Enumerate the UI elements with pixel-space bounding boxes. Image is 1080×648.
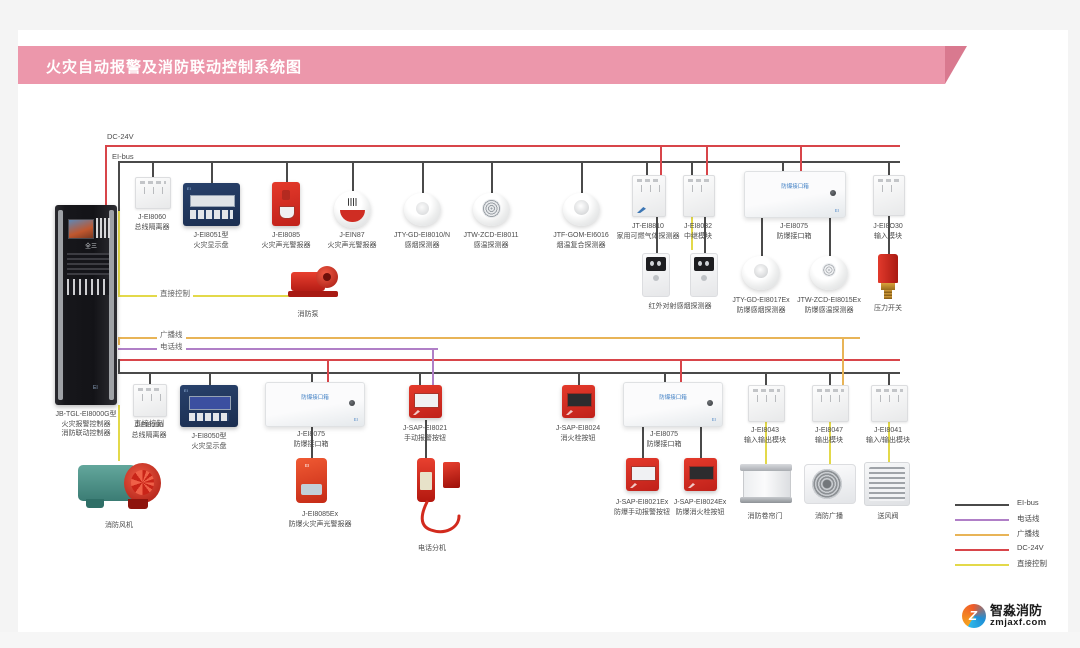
- watermark-url: zmjaxf.com: [990, 617, 1047, 628]
- dev-model: J-EI8060: [138, 214, 166, 221]
- device-ei8030-input-module[interactable]: [873, 175, 905, 216]
- wire-drop-ei8047-bc: [842, 337, 844, 385]
- legend-swatch-direct-control: [955, 564, 1009, 566]
- ex-sounder-body: [296, 458, 327, 503]
- dev-model: JT-EI8810: [632, 223, 664, 230]
- device-ei8017ex-smoke-detector[interactable]: [742, 256, 780, 290]
- detector-center: [416, 202, 429, 215]
- device-ei8075-interface-cabinet-top[interactable]: 防爆接口箱 EI: [744, 171, 846, 218]
- legend-swatch-broadcast: [955, 534, 1009, 536]
- dev-model: JTY-GD-EI8017Ex: [732, 297, 789, 304]
- dev-name: 消防风机: [105, 522, 133, 529]
- dev-name: 火灾显示盘: [192, 443, 227, 450]
- dev-model: J-EI8075: [297, 431, 325, 438]
- dev-name: 中继模块: [684, 233, 712, 240]
- caption-ei6016: JTF-GOM-EI6016 烟温复合探测器: [553, 231, 609, 250]
- wire-eibus-down-left: [118, 161, 120, 211]
- legend-row-dc24v: DC-24V: [955, 542, 1067, 557]
- detector-center: [822, 263, 836, 277]
- device-ei6016-combined-detector[interactable]: [563, 193, 600, 226]
- dev-model: JTF-GOM-EI6016: [553, 232, 609, 239]
- dev-model: J-SAP-EI8021Ex: [616, 499, 669, 506]
- speaker-hub: [823, 480, 831, 488]
- cabinet-keypad[interactable]: [96, 218, 110, 238]
- caption-ei8060-top: J-EI8060 总线隔离器: [135, 213, 170, 232]
- caption-ir-beam: 红外对射感烟探测器: [649, 302, 712, 312]
- device-ir-beam-receiver[interactable]: [690, 253, 718, 297]
- module-terminals: [754, 395, 779, 402]
- detector-center: [754, 264, 768, 278]
- ir-window: [646, 257, 666, 271]
- dev-model: JTW-ZCD-EI8011: [464, 232, 519, 239]
- cabinet-front-label: 防爆接口箱: [301, 393, 329, 401]
- device-ei8075-interface-cabinet-bottom[interactable]: 防爆接口箱 EI: [623, 382, 723, 427]
- wire-drop-ei8032: [691, 161, 693, 175]
- device-ei8024ex-hydrant-button[interactable]: [684, 458, 717, 491]
- caption-ei8043: J-EI8043 输入输出模块: [744, 426, 786, 445]
- caption-ei8051: J-EI8051型 火灾显示盘: [193, 231, 228, 250]
- cabinet-brand-logo: EI: [835, 208, 839, 213]
- device-fire-roller-shutter[interactable]: [740, 464, 792, 504]
- dev-model: JTW-ZCD-EI8015Ex: [797, 297, 861, 304]
- cabinet-lock-knob[interactable]: [707, 400, 713, 406]
- diagram-canvas: 火灾自动报警及消防联动控制系统图: [0, 0, 1080, 648]
- dev-name: 消防泵: [298, 311, 319, 318]
- panel-brand-tag: EI: [187, 186, 191, 191]
- dev-name: 总线隔离器: [132, 432, 167, 439]
- pump-base: [288, 291, 338, 297]
- detector-mesh: [482, 199, 501, 218]
- caption-ei8032: J-EI8032 中继模块: [684, 222, 712, 241]
- caption-fire-telephone: 电话分机: [418, 544, 446, 554]
- device-ei8010-smoke-detector[interactable]: [404, 193, 441, 226]
- legend-row-telephone: 电话线: [955, 512, 1067, 527]
- wire-eibus-lower-trunk: [118, 372, 900, 374]
- dev-name: 防爆感烟探测器: [736, 307, 785, 314]
- dev-name: 感温探测器: [473, 242, 508, 249]
- phone-label: [420, 472, 432, 490]
- device-ei8047-output-module[interactable]: [812, 385, 849, 422]
- label-dc24v: DC-24V: [105, 132, 136, 141]
- device-pressure-switch[interactable]: [874, 254, 902, 300]
- device-ei8060-bottom[interactable]: [133, 384, 167, 417]
- cabinet-brand-logo: EI: [712, 417, 716, 422]
- module-terminals: [141, 187, 165, 194]
- dev-name: 消防广播: [815, 513, 843, 520]
- label-broadcast: 广播线: [157, 329, 186, 340]
- wire-drop-ei8075-top: [782, 161, 784, 171]
- fan-foot-r: [128, 499, 148, 509]
- caption-ei8047: J-EI8047 输出模块: [815, 426, 843, 445]
- cabinet-front-label: 防爆接口箱: [659, 393, 687, 401]
- dev-name: 防爆手动报警按钮: [614, 509, 670, 516]
- caption-ei8015ex: JTW-ZCD-EI8015Ex 防爆感温探测器: [797, 296, 861, 315]
- dev-model: J-EI8085: [272, 232, 300, 239]
- device-ei8051-display-panel[interactable]: EI: [183, 183, 240, 226]
- module-label-strip: [817, 389, 844, 392]
- dev-name: 火灾显示盘: [194, 242, 229, 249]
- controller-model: JB-TGL-EI8000G型: [55, 411, 116, 418]
- device-ei8011-heat-detector[interactable]: [473, 193, 510, 226]
- dev-model: J-EI8043: [751, 427, 779, 434]
- module-terminals: [879, 185, 899, 192]
- wire-dc24v-down-left: [105, 145, 107, 207]
- ir-window: [694, 257, 714, 271]
- page-title: 火灾自动报警及消防联动控制系统图: [46, 56, 302, 77]
- ir-indicator: [653, 275, 659, 281]
- device-ei8043-io-module[interactable]: [748, 385, 785, 422]
- dev-name: 防爆火灾声光警报器: [289, 521, 352, 528]
- panel-buttons[interactable]: [190, 210, 233, 219]
- wire-drop-ei8085: [286, 161, 288, 182]
- legend-label: DC-24V: [1017, 543, 1044, 552]
- dev-model: J-EI8O30: [873, 223, 903, 230]
- dev-name: 家用可燃气体探测器: [617, 233, 680, 240]
- dev-name: 手动报警按钮: [404, 435, 446, 442]
- ex-sounder-lens: [301, 484, 322, 495]
- device-ei8041-io-module[interactable]: [871, 385, 908, 422]
- pump-hub: [323, 273, 331, 281]
- device-air-supply-damper[interactable]: [864, 462, 910, 506]
- fan-foot-l: [86, 499, 104, 508]
- module-terminals: [139, 394, 161, 401]
- wire-ei8075-to-ex-smoke: [761, 216, 763, 256]
- caption-ei8075-bottom: J-EI8075 防爆接口箱: [647, 430, 682, 449]
- device-fire-pump[interactable]: [285, 264, 343, 302]
- phone-jackbox: [443, 462, 460, 488]
- dev-model: J-SAP-EI8024Ex: [674, 499, 727, 506]
- cabinet-rail-left: [58, 210, 63, 400]
- cabinet-brand-mark: 全三: [85, 241, 97, 250]
- cabinet-display-screen[interactable]: [68, 219, 94, 239]
- wire-direct-control-top: [118, 295, 306, 297]
- shutter-headbox: [740, 464, 792, 471]
- module-label-strip: [753, 389, 780, 392]
- dev-name: 消火栓按钮: [560, 435, 595, 442]
- dev-name: 感烟探测器: [405, 242, 440, 249]
- legend-row-eibus: EI-bus: [955, 497, 1067, 512]
- dev-name: 消防卷帘门: [748, 513, 783, 520]
- dev-name: 防爆接口箱: [647, 441, 682, 448]
- wire-drop-ei8075-b2: [311, 372, 313, 382]
- caption-ei8010: JTY-GD-EI8010/N 感烟探测器: [394, 231, 450, 250]
- wire-drop-ei8043: [765, 372, 767, 385]
- legend-swatch-eibus: [955, 504, 1009, 506]
- legend-label: 广播线: [1017, 528, 1040, 539]
- dev-model: J-EI8075: [780, 223, 808, 230]
- module-label-strip: [140, 181, 166, 184]
- caption-ei8011: JTW-ZCD-EI8011 感温探测器: [464, 231, 519, 250]
- device-ei8021-manual-call-point[interactable]: [409, 385, 442, 418]
- watermark: 智淼消防 zmjaxf.com: [962, 604, 1047, 628]
- label-direct-control-top: 直接控制: [157, 288, 193, 299]
- module-label-strip: [878, 179, 900, 182]
- module-label-strip: [637, 179, 661, 182]
- wire-drop-ei8047: [829, 372, 831, 385]
- caption-ei8075-mid: J-EI8075 防爆接口箱: [294, 430, 329, 449]
- dev-name: 火灾声光警报器: [262, 242, 311, 249]
- dev-model: J-EI8032: [684, 223, 712, 230]
- call-point-window: [414, 393, 439, 408]
- watermark-text: 智淼消防 zmjaxf.com: [990, 604, 1047, 628]
- cabinet-rail-right: [109, 210, 114, 400]
- dev-model: J-SAP-EI8024: [556, 425, 600, 432]
- brand-logo-icon: [962, 604, 986, 628]
- dev-name: 总线隔离器: [135, 224, 170, 231]
- dev-name: 火灾声光警报器: [328, 242, 377, 249]
- fan-blades: [131, 470, 154, 495]
- panel-brand-tag: EI: [184, 388, 188, 393]
- wire-drop-ei8024: [578, 372, 580, 385]
- phone-cord-icon: [415, 500, 465, 536]
- wire-dc24v-trunk: [105, 145, 900, 147]
- wire-drop-ei8030: [888, 161, 890, 175]
- wire-drop-ei8032-dc: [706, 145, 708, 175]
- legend: EI-bus 电话线 广播线 DC-24V 直接控制: [955, 497, 1067, 572]
- module-terminals: [877, 395, 902, 402]
- device-ei8085-sounder[interactable]: [272, 182, 300, 226]
- cabinet-lock-knob[interactable]: [349, 400, 355, 406]
- device-ei8060-top[interactable]: [135, 177, 171, 209]
- wire-drop-ei8810-dc: [660, 145, 662, 175]
- cabinet-module-strip-lower: [67, 279, 109, 295]
- dev-name: 输入/输出模块: [866, 437, 910, 444]
- device-fire-telephone-extension[interactable]: [409, 458, 465, 540]
- wire-eibus-lower-v: [118, 359, 120, 372]
- device-ei8024-hydrant-button[interactable]: [562, 385, 595, 418]
- dev-model: J-EI8051型: [193, 232, 228, 239]
- wire-drop-ein87: [352, 161, 354, 191]
- dev-model: J-EI8047: [815, 427, 843, 434]
- module-terminals: [818, 395, 843, 402]
- caption-smoke-exhaust-fan: 消防风机: [105, 521, 133, 531]
- page-margin-bottom: [0, 632, 1080, 648]
- ir-lens-l: [650, 261, 654, 266]
- switch-collar: [881, 283, 895, 290]
- dev-model: JTY-GD-EI8010/N: [394, 232, 450, 239]
- wire-drop-ei8060-bottom: [149, 372, 151, 384]
- dev-name: 输入输出模块: [744, 437, 786, 444]
- wire-drop-ei8075-b3-dc: [680, 359, 682, 382]
- dev-name: 防爆感温探测器: [804, 307, 853, 314]
- dev-model: J-EI8060: [135, 422, 163, 429]
- legend-label: EI-bus: [1017, 498, 1039, 507]
- device-ei8021ex-manual-call-point[interactable]: [626, 458, 659, 491]
- module-terminals: [689, 185, 709, 192]
- wire-drop-ei8060-top: [152, 161, 154, 177]
- ir-lens-l: [698, 261, 702, 266]
- wire-drop-ei8050: [209, 372, 211, 385]
- detector-center: [574, 200, 589, 215]
- gas-detector-logo: [637, 207, 646, 213]
- page-margin-top: [0, 0, 1080, 30]
- wire-drop-ei8021: [419, 372, 421, 385]
- dev-model: J-EIN87: [339, 232, 364, 239]
- wire-drop-ei8075-b2-dc: [327, 359, 329, 382]
- dev-model: J-EI8050型: [191, 433, 226, 440]
- dev-name: 烟温复合探测器: [557, 242, 606, 249]
- wire-drop-ei8021-tel: [432, 348, 434, 385]
- shutter-rail: [740, 497, 792, 503]
- caption-ei8024ex: J-SAP-EI8024Ex 防爆消火栓按钮: [674, 498, 727, 517]
- controller-line2: 火灾报警控制器: [61, 421, 110, 428]
- dev-name: 输入模块: [874, 233, 902, 240]
- ir-lens-r: [657, 261, 661, 266]
- caption-ei8060-bottom: J-EI8060 总线隔离器: [132, 421, 167, 440]
- wire-dc24v-lower-trunk: [118, 359, 900, 361]
- dev-model: J-EI8085Ex: [302, 511, 338, 518]
- ir-indicator: [701, 275, 707, 281]
- wire-drop-ei8075-b3: [664, 372, 666, 382]
- ir-lens-r: [705, 261, 709, 266]
- caption-fire-broadcast: 消防广播: [815, 512, 843, 522]
- caption-ein87: J-EIN87 火灾声光警报器: [328, 231, 377, 250]
- damper-louvers: [869, 467, 905, 501]
- device-ei8085ex-sounder[interactable]: EI: [296, 458, 327, 503]
- switch-body: [878, 254, 898, 283]
- wire-drop-ei8011: [491, 161, 493, 193]
- dev-name: 防爆接口箱: [777, 233, 812, 240]
- device-ei8032-repeater-module[interactable]: [683, 175, 715, 217]
- controller-line3: 消防联动控制器: [61, 430, 110, 437]
- legend-label: 直接控制: [1017, 558, 1047, 569]
- device-smoke-exhaust-fan[interactable]: [76, 461, 164, 513]
- wire-drop-ei8041: [888, 372, 890, 385]
- page-margin-left: [0, 0, 18, 648]
- cabinet-module-strip-upper: [67, 253, 109, 275]
- cabinet-logo: EI: [93, 385, 98, 391]
- caption-fire-roller-shutter: 消防卷帘门: [748, 512, 783, 522]
- wire-direct-control-top-v: [118, 211, 120, 295]
- device-ei8075-interface-cabinet-mid[interactable]: 防爆接口箱 EI: [265, 382, 365, 427]
- dev-model: J-EI8075: [650, 431, 678, 438]
- dev-name: 红外对射感烟探测器: [649, 303, 712, 310]
- module-label-strip: [688, 179, 710, 182]
- wire-drop-ei8051: [211, 161, 213, 183]
- wire-broadcast-trunk: [118, 337, 860, 339]
- label-eibus: EI-bus: [110, 152, 136, 161]
- dev-name: 送风阀: [878, 513, 899, 520]
- wire-ei8075-b3-to-ex21: [642, 425, 644, 458]
- caption-controller: JB-TGL-EI8000G型 火灾报警控制器 消防联动控制器: [55, 410, 116, 439]
- caption-ei8085: J-EI8085 火灾声光警报器: [262, 231, 311, 250]
- cabinet-front-label: 防爆接口箱: [781, 182, 809, 190]
- panel-lcd: [190, 195, 235, 207]
- caption-ei8024: J-SAP-EI8024 消火栓按钮: [556, 424, 600, 443]
- panel-lcd: [189, 396, 231, 410]
- dev-name: 防爆接口箱: [294, 441, 329, 448]
- caption-ei8030: J-EI8O30 输入模块: [873, 222, 903, 241]
- dev-model: J-SAP-EI8021: [403, 425, 447, 432]
- legend-row-direct-control: 直接控制: [955, 557, 1067, 572]
- call-point-logo: [413, 410, 420, 415]
- caption-ei8050: J-EI8050型 火灾显示盘: [191, 432, 226, 451]
- legend-label: 电话线: [1017, 513, 1040, 524]
- hydrant-button-window: [689, 466, 714, 480]
- page-margin-right: [1068, 0, 1080, 648]
- panel-buttons[interactable]: [189, 413, 229, 421]
- dev-model: J-EI8041: [874, 427, 902, 434]
- caption-pressure-switch: 压力开关: [874, 304, 902, 314]
- caption-fire-pump: 消防泵: [298, 310, 319, 320]
- dev-name: 防爆消火栓按钮: [676, 509, 725, 516]
- legend-row-broadcast: 广播线: [955, 527, 1067, 542]
- device-ein87-sounder[interactable]: [334, 191, 371, 228]
- watermark-brand: 智淼消防: [990, 604, 1047, 617]
- device-ei8050-display-panel[interactable]: EI: [180, 385, 238, 427]
- call-point-logo: [630, 483, 637, 488]
- wire-direct-control-fan: [118, 405, 120, 461]
- hydrant-button-window: [567, 393, 592, 407]
- wire-drop-ei8010: [422, 161, 424, 193]
- device-ei8810-gas-detector[interactable]: [632, 175, 666, 217]
- fire-alarm-control-cabinet[interactable]: 全三 EI: [55, 205, 117, 405]
- hydrant-button-logo: [566, 410, 573, 415]
- wire-drop-ei8810: [646, 161, 648, 175]
- device-ir-beam-transmitter[interactable]: [642, 253, 670, 297]
- dev-name: 电话分机: [418, 545, 446, 552]
- ex-sounder-logo: EI: [305, 463, 309, 468]
- module-terminals: [638, 185, 660, 192]
- wire-drop-ei8075-dc: [800, 145, 802, 171]
- wire-ei8075-to-ex-heat: [829, 216, 831, 256]
- sounder-lens: [279, 206, 295, 219]
- sounder-red-dome: [340, 210, 365, 222]
- hydrant-button-logo: [688, 483, 695, 488]
- caption-ei8085ex: J-EI8085Ex 防爆火灾声光警报器: [289, 510, 352, 529]
- shutter-curtain: [743, 471, 791, 497]
- dev-name: 输出模块: [815, 437, 843, 444]
- device-fire-broadcast-speaker[interactable]: [804, 464, 856, 504]
- call-point-window: [631, 466, 656, 481]
- legend-swatch-telephone: [955, 519, 1009, 521]
- sounder-grille: [282, 190, 290, 200]
- wire-broadcast-v: [118, 337, 120, 345]
- legend-swatch-dc24v: [955, 549, 1009, 551]
- caption-air-supply-damper: 送风阀: [878, 512, 899, 522]
- caption-ei8810: JT-EI8810 家用可燃气体探测器: [617, 222, 680, 241]
- cabinet-brand-logo: EI: [354, 417, 358, 422]
- caption-ei8075-top: J-EI8075 防爆接口箱: [777, 222, 812, 241]
- banner-fold-corner: [945, 46, 967, 84]
- caption-ei8041: J-EI8041 输入/输出模块: [866, 426, 910, 445]
- cabinet-lock-knob[interactable]: [830, 190, 836, 196]
- label-telephone: 电话线: [157, 341, 186, 352]
- wire-drop-ei6016: [581, 161, 583, 193]
- device-ei8015ex-heat-detector[interactable]: [810, 256, 848, 290]
- caption-ei8017ex: JTY-GD-EI8017Ex 防爆感烟探测器: [732, 296, 789, 315]
- caption-ei8021: J-SAP-EI8021 手动报警按钮: [403, 424, 447, 443]
- caption-ei8021ex: J-SAP-EI8021Ex 防爆手动报警按钮: [614, 498, 670, 517]
- sounder-icon: [348, 198, 357, 206]
- switch-thread: [884, 290, 892, 299]
- dev-name: 压力开关: [874, 305, 902, 312]
- wire-ei8075-b3-to-ex24: [700, 425, 702, 458]
- module-label-strip: [876, 389, 903, 392]
- module-label-strip: [138, 388, 162, 391]
